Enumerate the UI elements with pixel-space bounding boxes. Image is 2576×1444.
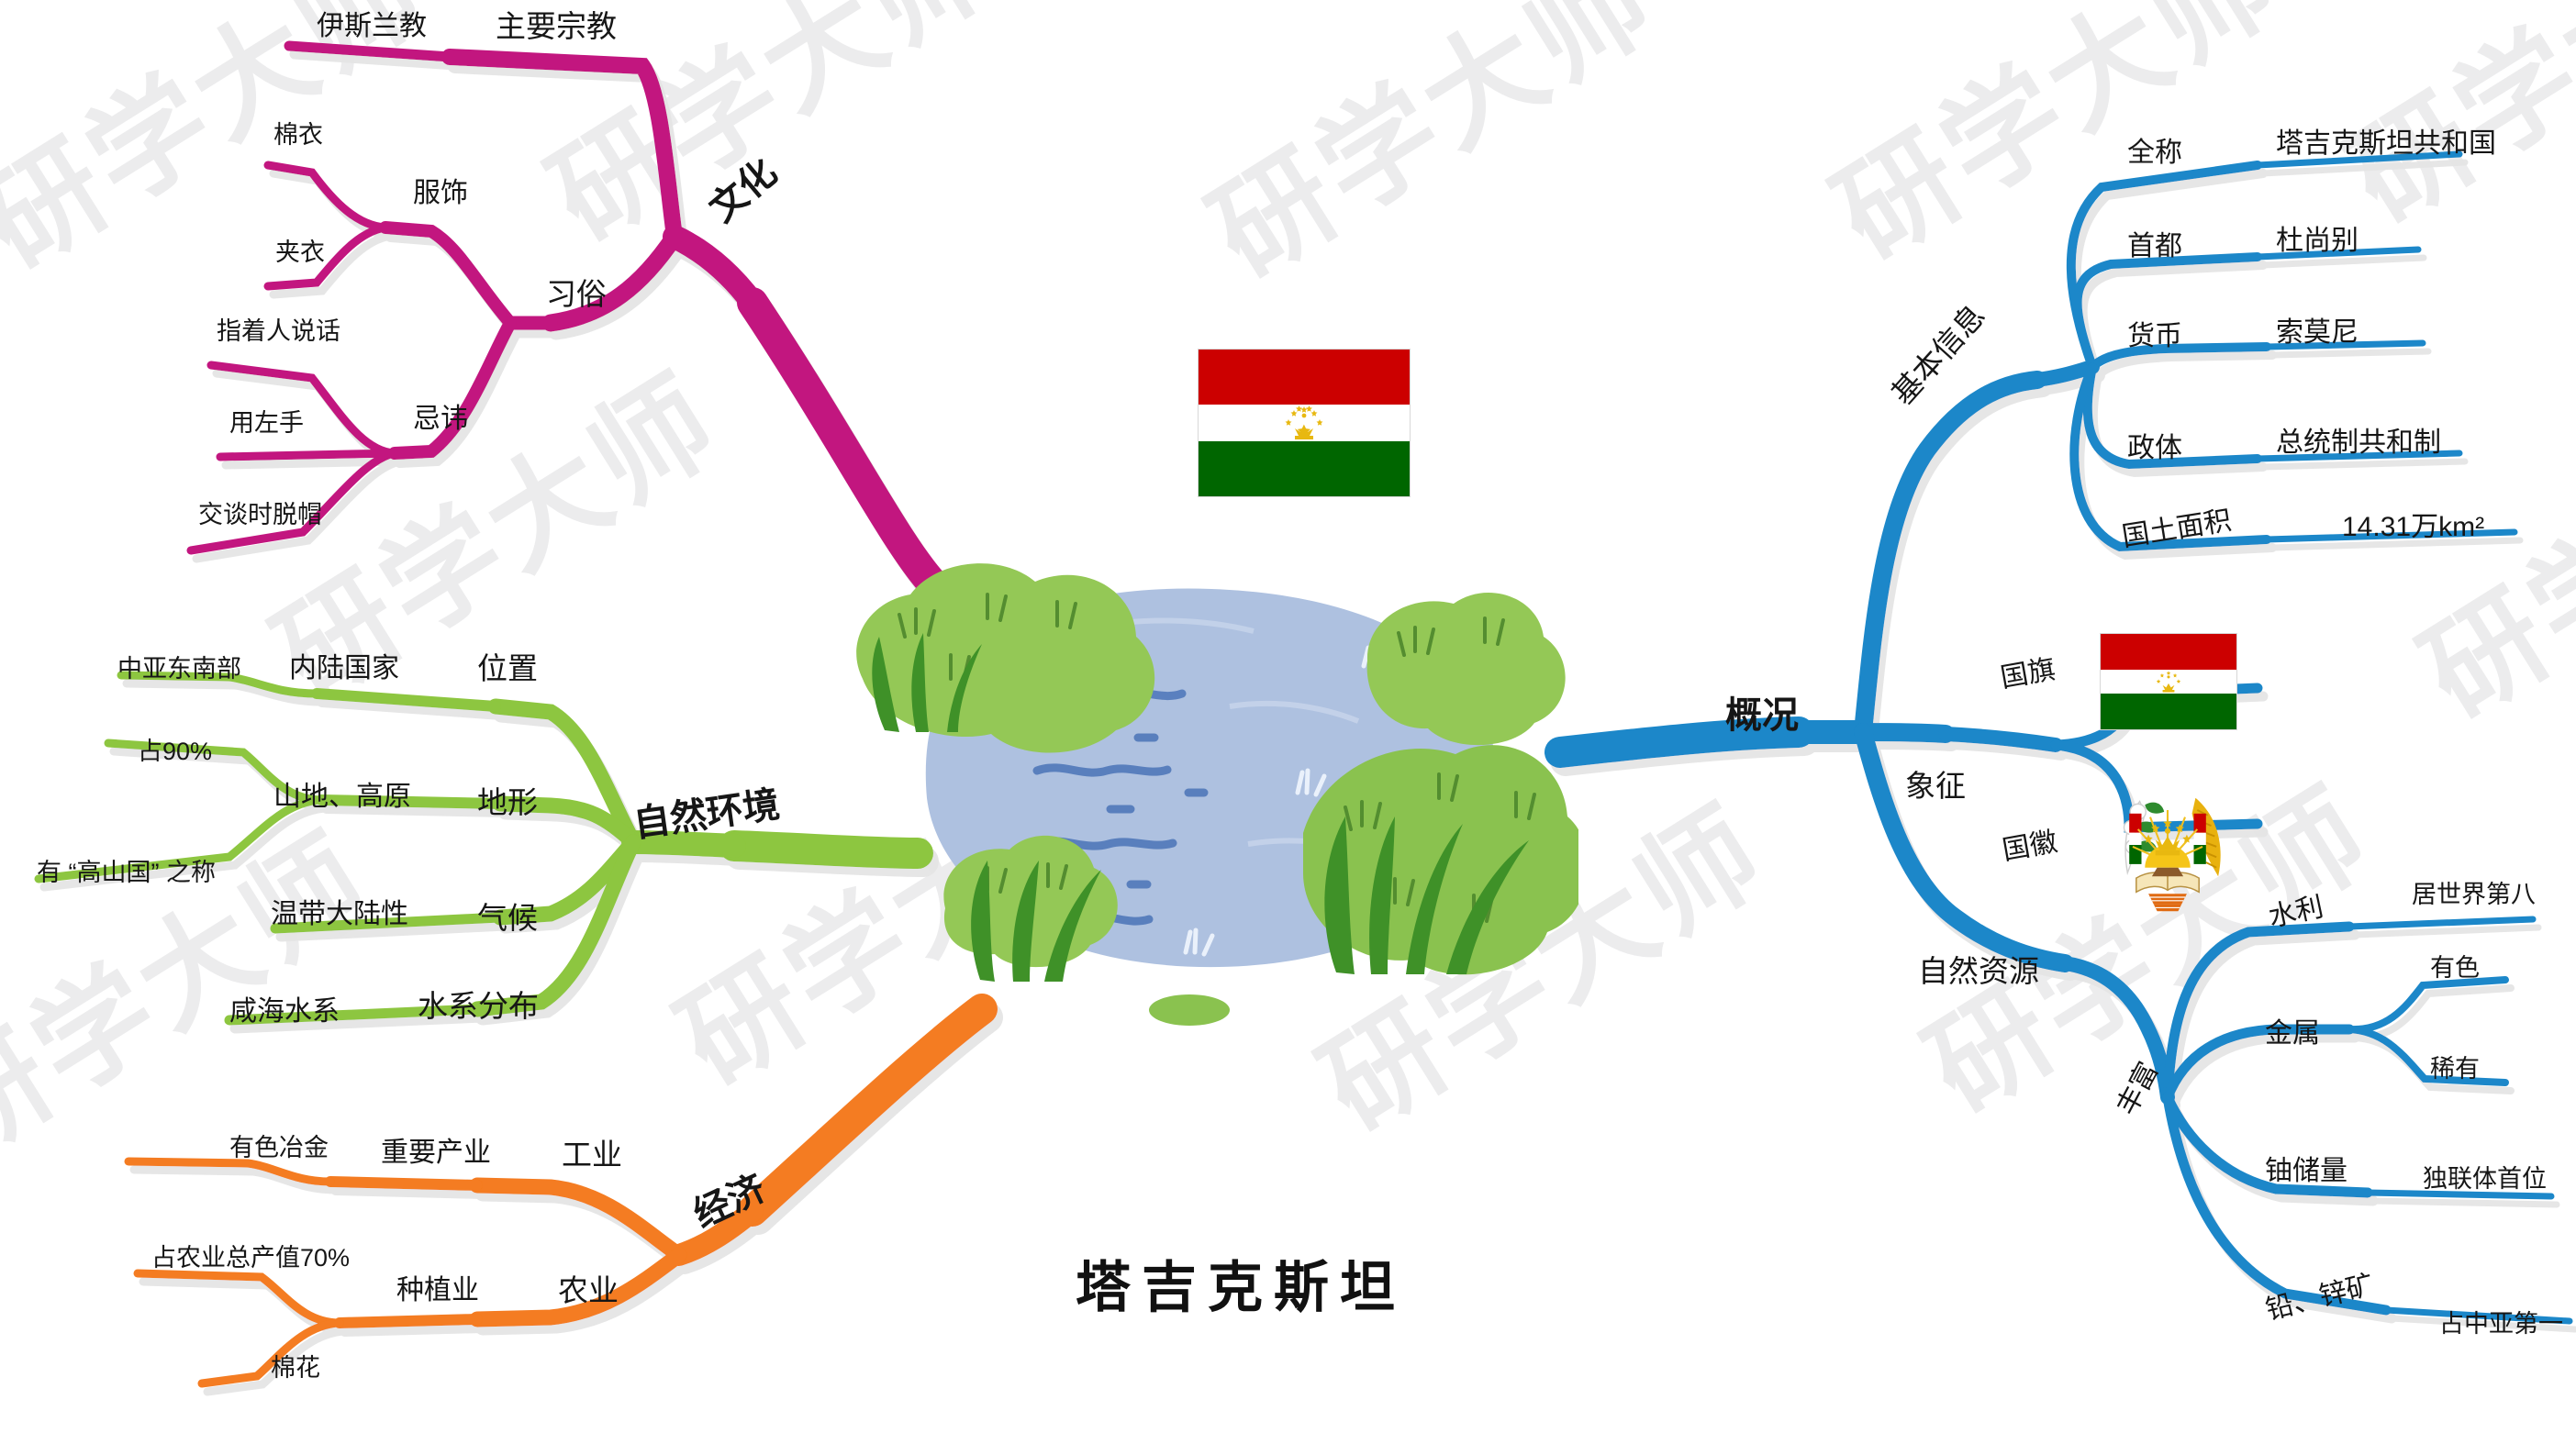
node-label-cotton[interactable]: 棉花 [271,1356,320,1381]
flag-red-stripe [1199,350,1410,405]
node-label-point-at-people[interactable]: 指着人说话 [217,319,340,344]
nature-branch-group [39,675,918,1020]
node-label-symbols[interactable]: 象征 [1905,771,1966,801]
node-value-currency[interactable]: 索莫尼 [2276,319,2359,347]
node-label-agriculture[interactable]: 农业 [558,1275,619,1305]
node-label-polity[interactable]: 政体 [2127,435,2182,462]
bush-top-left [856,563,1154,752]
bush-right [1303,745,1578,974]
node-label-full-name[interactable]: 全称 [2127,139,2182,167]
flag-red-stripe [2101,634,2236,670]
node-label-main-religion[interactable]: 主要宗教 [496,11,617,41]
node-value-capital[interactable]: 杜尚别 [2276,228,2359,255]
node-label-terrain[interactable]: 地形 [477,787,538,817]
node-label-landlocked[interactable]: 内陆国家 [289,655,399,683]
node-label-uranium-reserves[interactable]: 铀储量 [2265,1158,2347,1185]
node-label-customs[interactable]: 习俗 [546,279,607,309]
node-value-full-name[interactable]: 塔吉克斯坦共和国 [2276,130,2496,158]
node-label-clothing[interactable]: 服饰 [413,180,468,207]
node-label-mountains-plateau[interactable]: 山地、高原 [273,783,411,811]
node-label-remove-hat[interactable]: 交谈时脱帽 [198,503,322,528]
crown-stars-icon [1278,405,1330,441]
node-label-key-industry[interactable]: 重要产业 [381,1139,491,1167]
tajikistan-flag-center [1198,349,1411,497]
node-label-percent90[interactable]: 占90% [138,739,212,764]
flag-white-stripe [1199,405,1410,441]
node-value-hydropower[interactable]: 居世界第八 [2412,883,2536,907]
mindmap-canvas: 研学大师 研学大师 研学大师 研学大师 研学大师 研学大师 研学大师 研学大师 … [0,0,2576,1444]
node-label-islam[interactable]: 伊斯兰教 [317,13,427,40]
flag-white-stripe [2101,670,2236,694]
node-label-capital[interactable]: 首都 [2127,233,2182,261]
branch-label-overview[interactable]: 概况 [1725,697,1799,734]
flag-green-stripe [2101,694,2236,729]
node-label-rare[interactable]: 稀有 [2430,1057,2480,1082]
node-label-natural-resources[interactable]: 自然资源 [1918,956,2039,986]
node-label-location[interactable]: 位置 [477,653,538,683]
tajikistan-flag-symbol [2100,633,2237,730]
node-label-lined-coat[interactable]: 夹衣 [275,240,325,265]
node-value-uranium[interactable]: 独联体首位 [2423,1167,2547,1192]
node-label-temperate-continental[interactable]: 温带大陆性 [271,901,408,928]
node-label-cotton-coat[interactable]: 棉衣 [273,123,323,148]
emblem-book [2136,868,2199,893]
node-label-use-left-hand[interactable]: 用左手 [229,411,304,436]
node-value-polity[interactable]: 总统制共和制 [2276,429,2441,457]
overview-branch-group [1560,154,2570,1321]
node-label-metals[interactable]: 金属 [2265,1020,2320,1048]
center-illustration [808,541,1578,1055]
node-label-aral-sea-system[interactable]: 咸海水系 [229,998,340,1026]
node-label-southeast-central-asia[interactable]: 中亚东南部 [117,657,241,682]
node-label-currency[interactable]: 货币 [2127,323,2182,350]
node-label-industry[interactable]: 工业 [562,1139,622,1170]
node-label-water-systems[interactable]: 水系分布 [418,991,539,1021]
node-label-highland-country[interactable]: 有 “高山国” 之称 [37,861,216,885]
crown-stars-icon [2152,670,2185,694]
node-label-taboos[interactable]: 忌讳 [413,405,468,433]
emblem-pedestal [2148,894,2187,911]
flag-green-stripe [1199,441,1410,496]
node-label-nonferrous-metallurgy[interactable]: 有色冶金 [229,1136,329,1161]
node-label-climate[interactable]: 气候 [477,903,538,933]
node-value-land-area[interactable]: 14.31万km² [2342,514,2484,541]
node-label-percent70-agri[interactable]: 占农业总产值70% [151,1246,350,1271]
small-island [1149,994,1230,1026]
tajikistan-emblem-icon [2098,775,2237,915]
node-label-planting[interactable]: 种植业 [396,1277,479,1305]
node-label-nonferrous[interactable]: 有色 [2430,956,2480,981]
node-value-lead-zinc[interactable]: 占中亚第一 [2439,1312,2563,1337]
page-title: 塔吉克斯坦 [1076,1243,1406,1323]
economy-branch-group [128,1009,982,1383]
